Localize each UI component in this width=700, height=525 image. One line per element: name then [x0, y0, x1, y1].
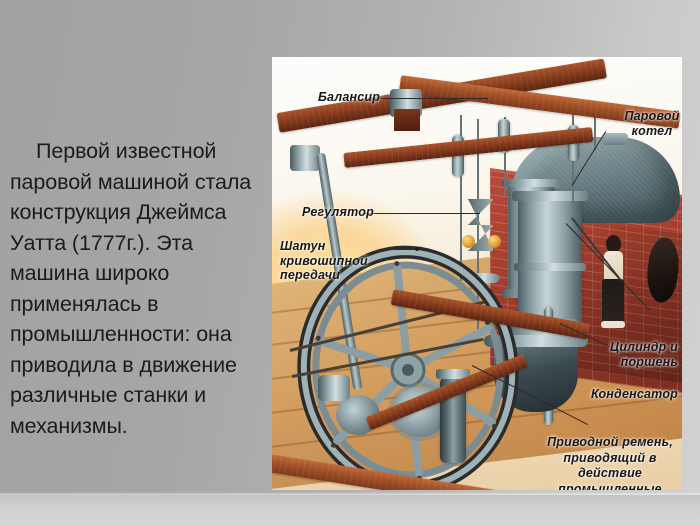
label-cylinder-piston: Цилиндр и поршень: [560, 340, 678, 369]
crank-bearing: [318, 375, 350, 401]
presentation-slide: Первой известной паровой машиной стала к…: [0, 0, 700, 525]
label-drive-belt: Приводной ремень, приводящий в действие …: [540, 435, 680, 490]
steam-engine-illustration: Балансир Паровой котел Регулятор Шатун к…: [272, 57, 682, 490]
label-boiler: Паровой котел: [622, 109, 682, 138]
label-regulator: Регулятор: [302, 205, 374, 220]
label-condenser: Конденсатор: [552, 387, 678, 402]
beam-pivot-left: [290, 145, 320, 171]
label-balancer: Балансир: [318, 90, 380, 105]
label-connecting-rod: Шатун кривошипной передачи: [280, 239, 398, 283]
worker-shoe: [601, 321, 625, 328]
slide-body-text: Первой известной паровой машиной стала к…: [10, 136, 262, 441]
cylinder-flange-mid: [514, 263, 586, 271]
worker-legs: [602, 279, 624, 323]
bottom-band: [0, 495, 700, 525]
beam-bracket: [394, 109, 420, 131]
condenser-flange-top: [502, 179, 560, 187]
leader-regulator: [362, 213, 480, 214]
leader-dot-conrod: [415, 247, 419, 251]
engine-artwork: Балансир Паровой котел Регулятор Шатун к…: [272, 57, 682, 490]
cylinder-flange-top: [512, 191, 588, 201]
leader-balancer: [368, 98, 488, 99]
